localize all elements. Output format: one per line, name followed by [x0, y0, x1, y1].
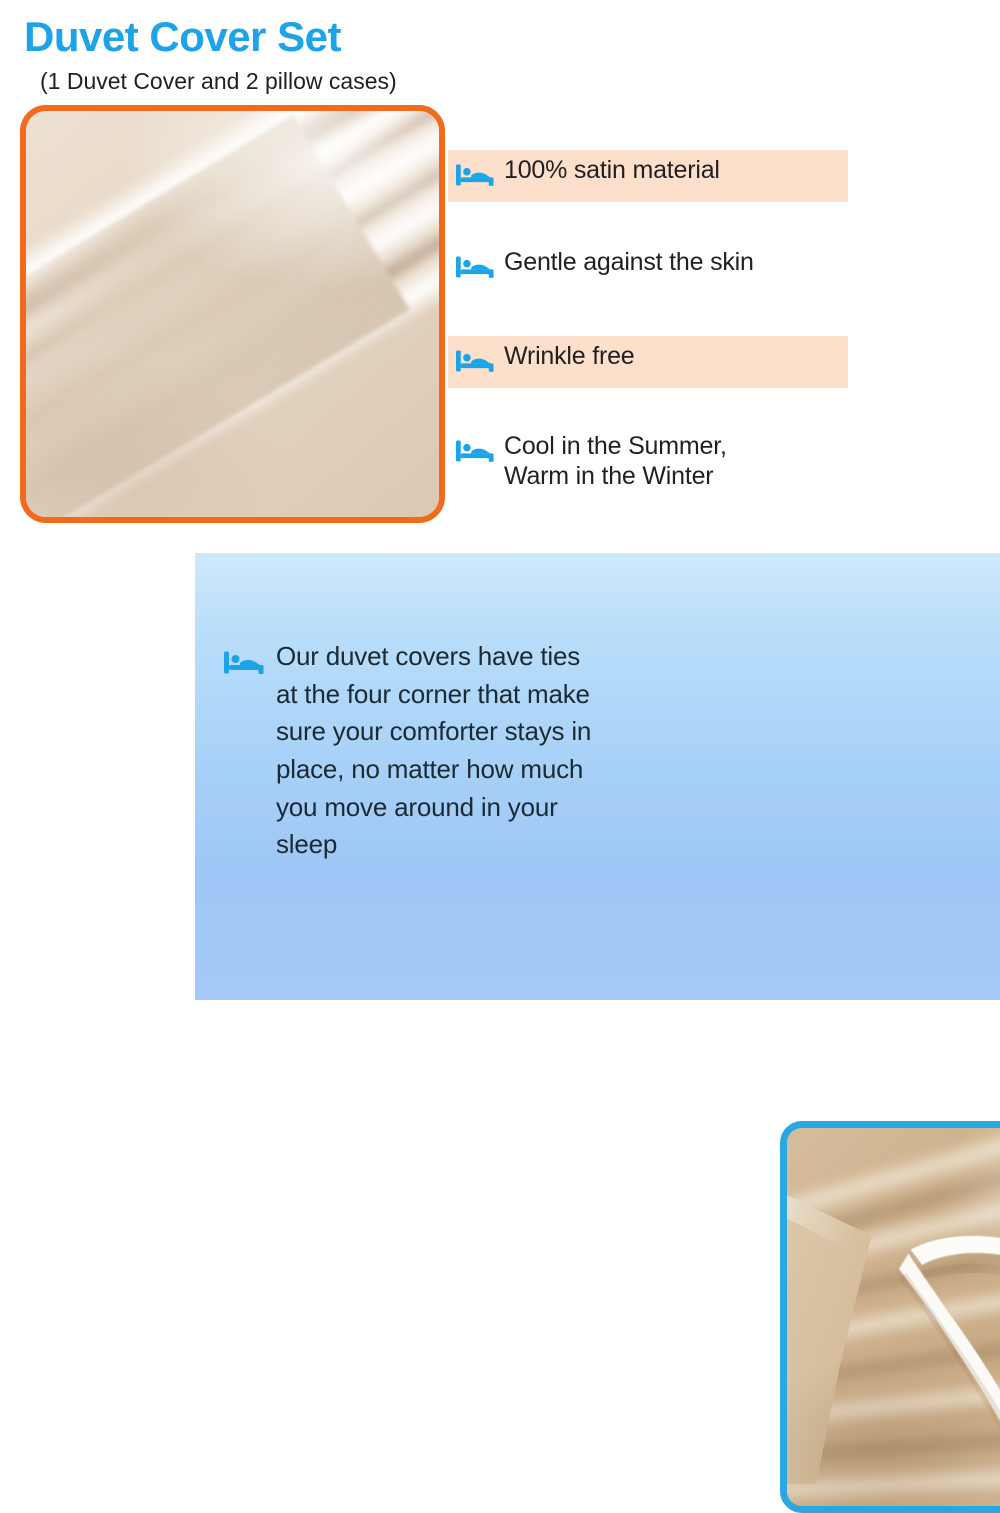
feature-item: Wrinkle free: [448, 336, 848, 388]
duvet-ties-image: [780, 1121, 1000, 1513]
feature-label: Cool in the Summer, Warm in the Winter: [504, 426, 727, 491]
feature-spacer: [448, 202, 848, 242]
feature-item: Cool in the Summer, Warm in the Winter: [448, 426, 848, 491]
feature-label: Wrinkle free: [504, 336, 635, 372]
ties-description: Our duvet covers have ties at the four c…: [224, 638, 602, 864]
bed-icon: [456, 162, 494, 188]
ties-description-text: Our duvet covers have ties at the four c…: [276, 638, 602, 864]
feature-spacer: [448, 388, 848, 426]
infographic-page: Duvet Cover Set (1 Duvet Cover and 2 pil…: [0, 0, 1000, 1000]
feature-item: Gentle against the skin: [448, 242, 848, 294]
feature-item: 100% satin material: [448, 150, 848, 202]
fabric-sheen-overlay: [26, 111, 439, 517]
feature-label: 100% satin material: [504, 150, 720, 186]
duvet-ties-photo: [787, 1128, 1000, 1506]
page-subtitle: (1 Duvet Cover and 2 pillow cases): [40, 70, 397, 93]
satin-fabric-photo: [26, 111, 439, 517]
ties-sheen-overlay: [787, 1128, 1000, 1506]
feature-spacer: [448, 294, 848, 336]
feature-list: 100% satin material Gentle against the s…: [448, 150, 848, 491]
bed-icon: [224, 649, 264, 676]
feature-label: Gentle against the skin: [504, 242, 754, 278]
bed-icon: [456, 254, 494, 280]
bed-icon: [456, 348, 494, 374]
page-title: Duvet Cover Set: [24, 16, 341, 58]
ties-info-panel: Our duvet covers have ties at the four c…: [195, 553, 1000, 1000]
bed-icon: [456, 438, 494, 464]
satin-fabric-image: [20, 105, 445, 523]
